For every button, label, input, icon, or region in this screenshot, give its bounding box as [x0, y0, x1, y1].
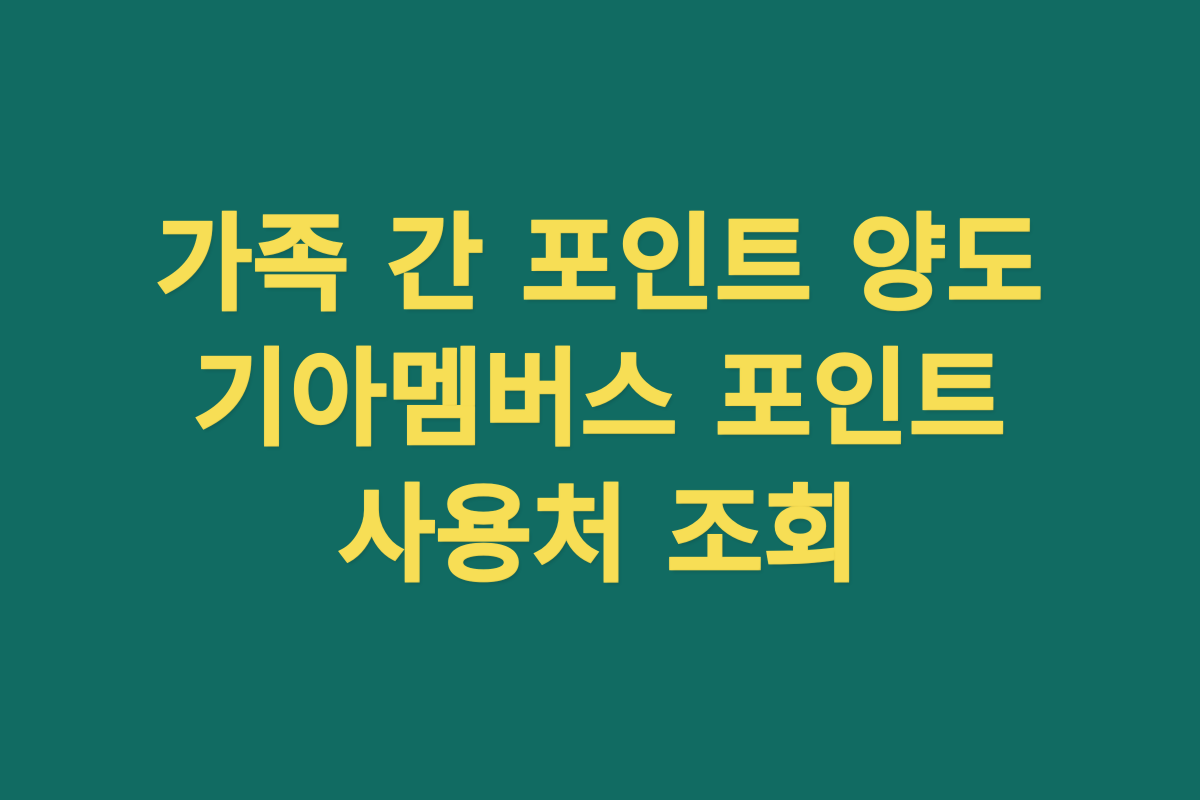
headline-block: 가족 간 포인트 양도 기아멤버스 포인트 사용처 조회 [0, 197, 1200, 603]
banner-canvas: 가족 간 포인트 양도 기아멤버스 포인트 사용처 조회 [0, 0, 1200, 800]
page-title: 가족 간 포인트 양도 기아멤버스 포인트 사용처 조회 [78, 197, 1122, 603]
